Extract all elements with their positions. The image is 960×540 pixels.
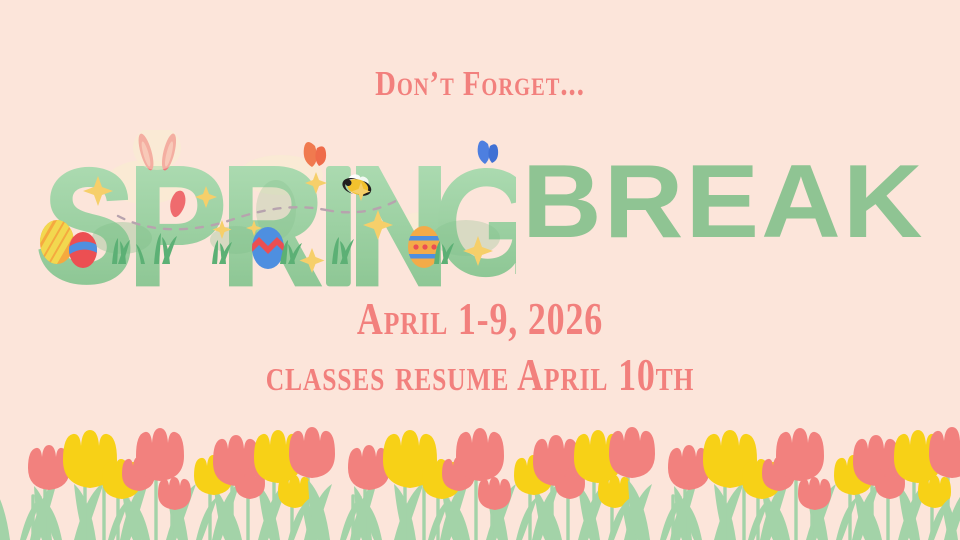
date-range-line: April 1-9, 2026 [96, 293, 864, 345]
classes-resume-line: classes resume April 10th [96, 349, 864, 401]
tulip-tile [628, 427, 960, 540]
page-kicker: Don’t Forget... [86, 64, 873, 104]
spring-break-poster: Don’t Forget... [0, 0, 960, 540]
spring-decorated-wordmark [26, 130, 516, 290]
tulip-tile [308, 427, 655, 540]
tulip-border [0, 410, 960, 540]
tulip-tile [0, 427, 335, 540]
butterfly-icon [478, 140, 498, 164]
break-wordmark: BREAK [522, 148, 946, 258]
